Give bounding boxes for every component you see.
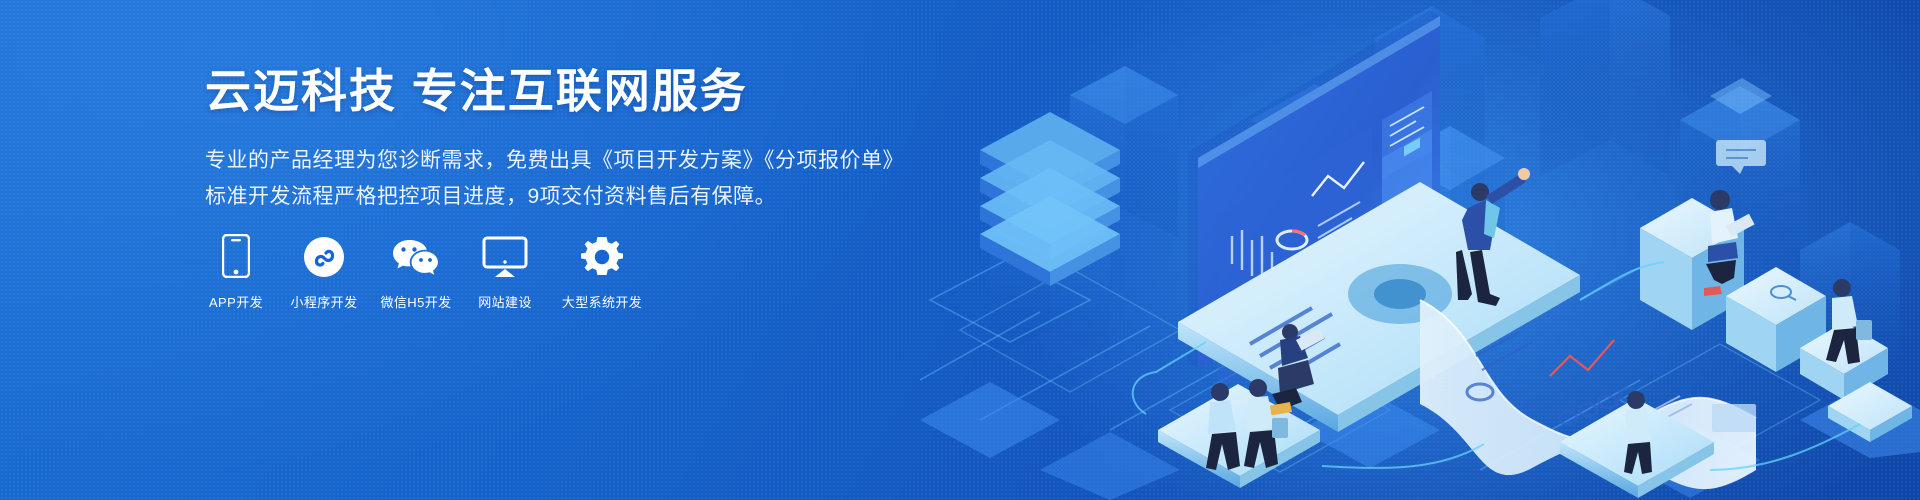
mini-program-icon — [303, 232, 345, 278]
service-item-wechat-h5[interactable]: 微信H5开发 — [376, 232, 456, 311]
service-label: 小程序开发 — [290, 292, 357, 311]
subtitle-line-2: 标准开发流程严格把控项目进度，9项交付资料售后有保障。 — [205, 180, 925, 214]
service-item-large-system[interactable]: 大型系统开发 — [554, 232, 650, 311]
service-label: APP开发 — [209, 292, 263, 311]
subtitle-line-1: 专业的产品经理为您诊断需求，免费出具《项目开发方案》《分项报价单》 — [205, 144, 925, 178]
service-item-website[interactable]: 网站建设 — [468, 232, 542, 311]
hero-banner: 云迈科技 专注互联网服务 专业的产品经理为您诊断需求，免费出具《项目开发方案》《… — [0, 0, 1920, 500]
service-label: 网站建设 — [478, 292, 532, 311]
gear-icon — [581, 232, 623, 278]
mobile-phone-icon — [222, 232, 250, 278]
service-item-miniprogram[interactable]: 小程序开发 — [284, 232, 364, 311]
service-label: 大型系统开发 — [562, 292, 642, 311]
hero-copy: 云迈科技 专注互联网服务 专业的产品经理为您诊断需求，免费出具《项目开发方案》《… — [205, 64, 925, 214]
background-isometric-grid — [920, 0, 1920, 500]
page-title: 云迈科技 专注互联网服务 — [205, 64, 925, 118]
service-list: APP开发 小程序开发 — [200, 232, 650, 311]
wechat-icon — [392, 232, 440, 278]
service-label: 微信H5开发 — [380, 292, 451, 311]
service-item-app[interactable]: APP开发 — [200, 232, 272, 311]
monitor-icon — [482, 232, 528, 278]
